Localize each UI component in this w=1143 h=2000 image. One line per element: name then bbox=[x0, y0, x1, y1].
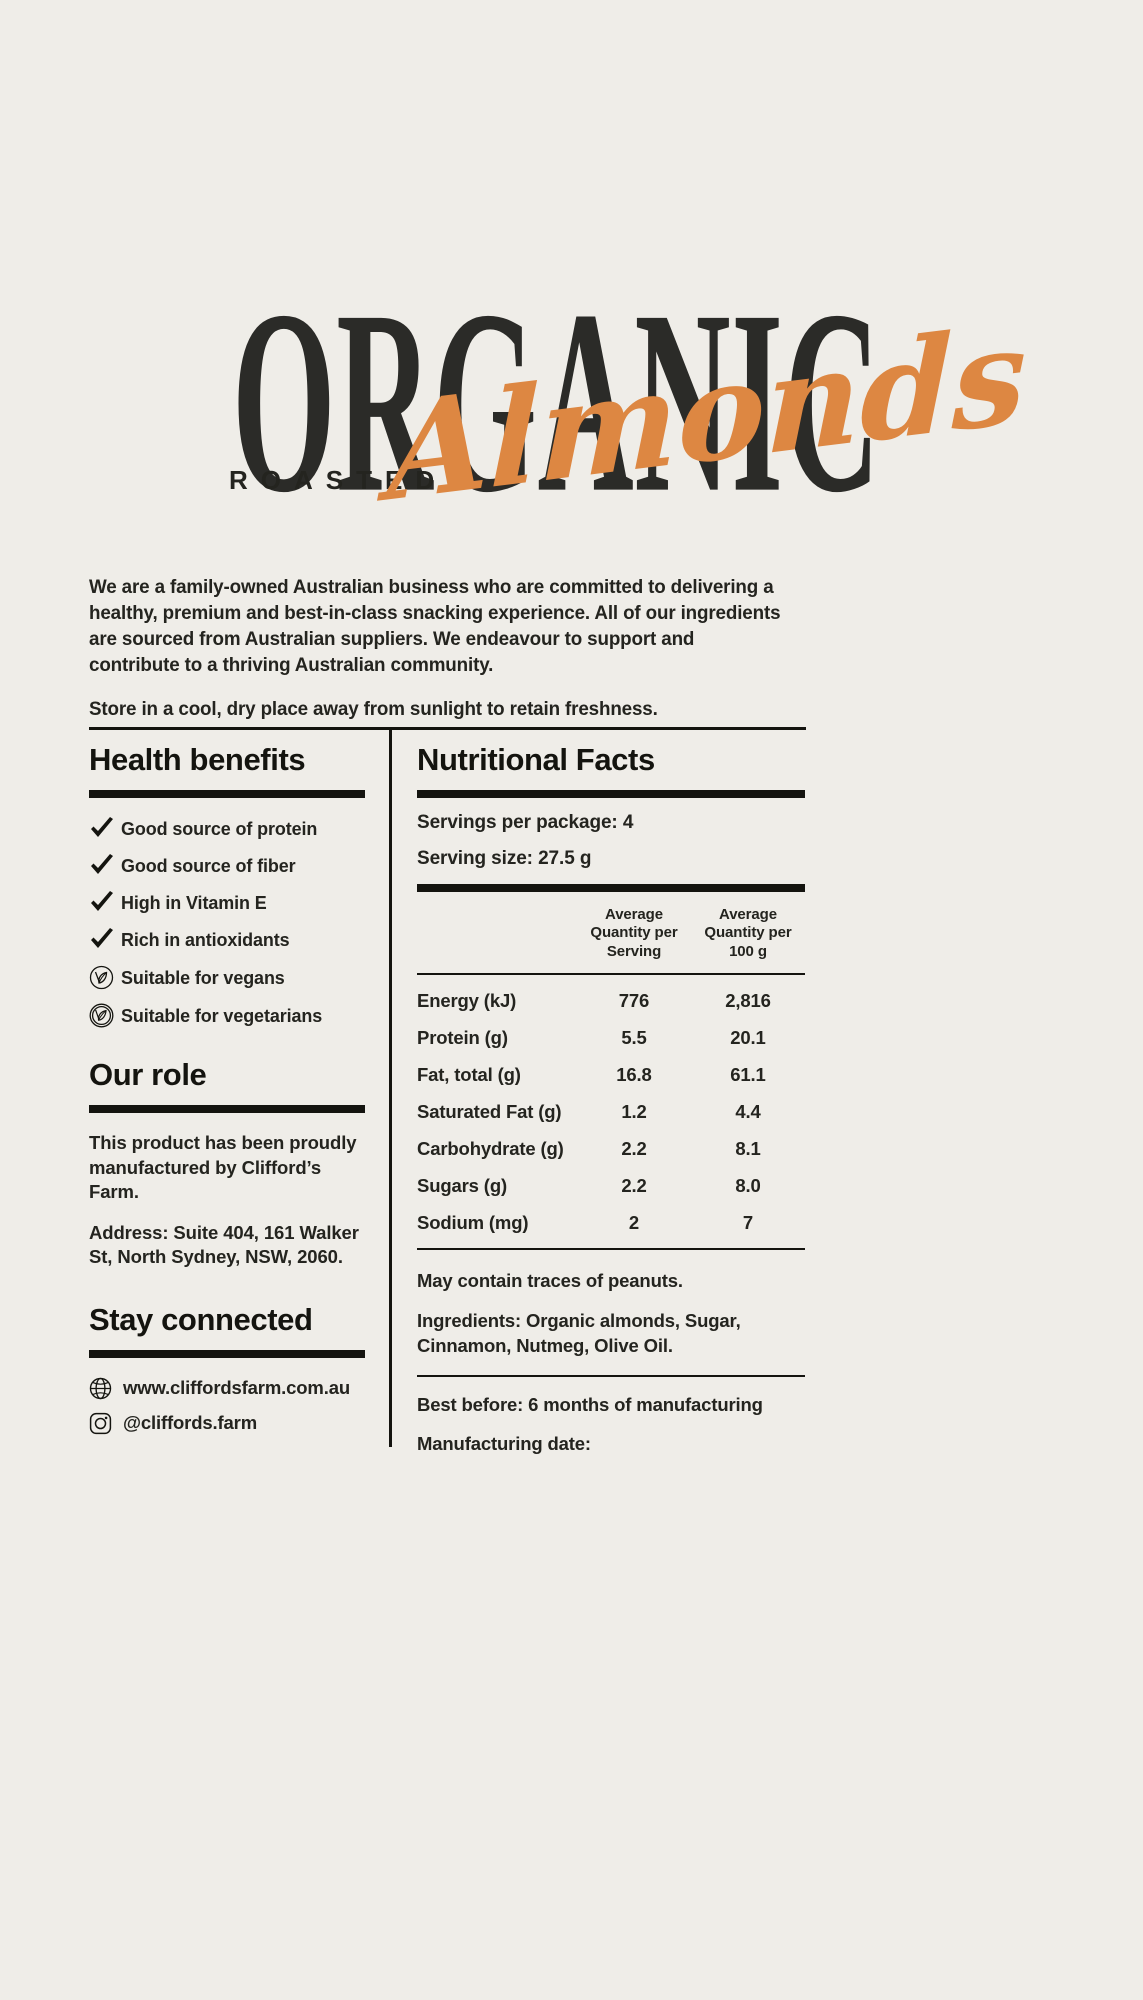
nutrient-name: Sugars (g) bbox=[417, 1167, 577, 1204]
value-per-serving: 2.2 bbox=[577, 1167, 691, 1204]
table-row: Saturated Fat (g) 1.2 4.4 bbox=[417, 1093, 805, 1130]
section-top-rule bbox=[89, 727, 806, 730]
list-item-label: Suitable for vegetarians bbox=[121, 1005, 322, 1027]
serving-size: Serving size: 27.5 g bbox=[417, 848, 807, 870]
globe-icon bbox=[89, 1377, 123, 1400]
allergen-note: May contain traces of peanuts. bbox=[417, 1269, 807, 1294]
list-item-label: Good source of fiber bbox=[121, 855, 296, 877]
notes-bottom-rule bbox=[417, 1375, 805, 1377]
nutritional-facts-heading: Nutritional Facts bbox=[417, 742, 807, 778]
value-per-100g: 4.4 bbox=[691, 1093, 805, 1130]
hero-lockup: ORGANIC ROASTED Almonds bbox=[0, 270, 1143, 600]
intro-paragraph-about: We are a family-owned Australian busines… bbox=[89, 575, 789, 679]
stay-connected-rule bbox=[89, 1350, 365, 1358]
right-column: Nutritional Facts Servings per package: … bbox=[417, 742, 807, 1472]
per-100g-column-header: Average Quantity per 100 g bbox=[691, 892, 805, 974]
list-item: Good source of fiber bbox=[89, 854, 374, 878]
manufacturer-text: This product has been proudly manufactur… bbox=[89, 1131, 374, 1205]
hdr-line: Average bbox=[605, 906, 663, 923]
list-item: Suitable for vegetarians bbox=[89, 1003, 374, 1028]
intro-block: We are a family-owned Australian busines… bbox=[89, 575, 814, 741]
social-links: www.cliffordsfarm.com.au @cliffords.farm bbox=[89, 1377, 374, 1435]
intro-paragraph-storage: Store in a cool, dry place away from sun… bbox=[89, 697, 789, 723]
table-row: Sodium (mg) 2 7 bbox=[417, 1204, 805, 1249]
hdr-line: Quantity per bbox=[704, 924, 791, 941]
nutrition-table: Average Quantity per Serving Average Qua… bbox=[417, 892, 805, 1250]
servings-per-package: Servings per package: 4 bbox=[417, 812, 807, 834]
table-row: Sugars (g) 2.2 8.0 bbox=[417, 1167, 805, 1204]
hdr-line: 100 g bbox=[729, 943, 767, 960]
value-per-serving: 1.2 bbox=[577, 1093, 691, 1130]
per-serving-column-header: Average Quantity per Serving bbox=[577, 892, 691, 974]
list-item: High in Vitamin E bbox=[89, 891, 374, 915]
stay-connected-heading: Stay connected bbox=[89, 1302, 374, 1338]
manufacturing-date: Manufacturing date: bbox=[417, 1433, 807, 1455]
value-per-serving: 5.5 bbox=[577, 1019, 691, 1056]
our-role-heading: Our role bbox=[89, 1057, 374, 1093]
serving-info: Servings per package: 4 Serving size: 27… bbox=[417, 812, 807, 870]
table-row: Protein (g) 5.5 20.1 bbox=[417, 1019, 805, 1056]
value-per-100g: 8.1 bbox=[691, 1130, 805, 1167]
value-per-100g: 20.1 bbox=[691, 1019, 805, 1056]
left-column: Health benefits Good source of protein G… bbox=[89, 742, 374, 1447]
check-icon bbox=[89, 928, 121, 952]
value-per-serving: 16.8 bbox=[577, 1056, 691, 1093]
hdr-line: Serving bbox=[607, 943, 661, 960]
nutrient-name: Saturated Fat (g) bbox=[417, 1093, 577, 1130]
list-item-label: Good source of protein bbox=[121, 818, 317, 840]
list-item: Suitable for vegans bbox=[89, 965, 374, 990]
list-item: Rich in antioxidants bbox=[89, 928, 374, 952]
value-per-100g: 2,816 bbox=[691, 974, 805, 1020]
list-item-label: Suitable for vegans bbox=[121, 967, 285, 989]
list-item: Good source of protein bbox=[89, 817, 374, 841]
vegan-leaf-icon bbox=[89, 965, 121, 990]
date-block: Best before: 6 months of manufacturing M… bbox=[417, 1394, 807, 1455]
social-link-website[interactable]: www.cliffordsfarm.com.au bbox=[89, 1377, 374, 1400]
best-before: Best before: 6 months of manufacturing bbox=[417, 1394, 807, 1416]
hdr-line: Quantity per bbox=[590, 924, 677, 941]
value-per-serving: 2 bbox=[577, 1204, 691, 1249]
table-header-row: Average Quantity per Serving Average Qua… bbox=[417, 892, 805, 974]
value-per-serving: 776 bbox=[577, 974, 691, 1020]
value-per-100g: 7 bbox=[691, 1204, 805, 1249]
instagram-icon bbox=[89, 1412, 123, 1435]
nutrient-column-header bbox=[417, 892, 577, 974]
nutrient-name: Protein (g) bbox=[417, 1019, 577, 1056]
check-icon bbox=[89, 817, 121, 841]
nutrition-table-top-rule bbox=[417, 884, 805, 892]
health-benefits-list: Good source of protein Good source of fi… bbox=[89, 817, 374, 1028]
label-page: ORGANIC ROASTED Almonds We are a family-… bbox=[0, 0, 1143, 2000]
nutrient-name: Fat, total (g) bbox=[417, 1056, 577, 1093]
check-icon bbox=[89, 854, 121, 878]
nutrient-name: Energy (kJ) bbox=[417, 974, 577, 1020]
hdr-line: Average bbox=[719, 906, 777, 923]
health-benefits-rule bbox=[89, 790, 365, 798]
ingredients-note: Ingredients: Organic almonds, Sugar, Cin… bbox=[417, 1309, 807, 1358]
our-role-rule bbox=[89, 1105, 365, 1113]
nutritional-facts-rule bbox=[417, 790, 805, 798]
value-per-100g: 61.1 bbox=[691, 1056, 805, 1093]
website-label: www.cliffordsfarm.com.au bbox=[123, 1377, 350, 1399]
instagram-label: @cliffords.farm bbox=[123, 1412, 257, 1434]
list-item-label: Rich in antioxidants bbox=[121, 929, 290, 951]
table-row: Carbohydrate (g) 2.2 8.1 bbox=[417, 1130, 805, 1167]
column-divider bbox=[389, 727, 392, 1447]
table-row: Fat, total (g) 16.8 61.1 bbox=[417, 1056, 805, 1093]
list-item-label: High in Vitamin E bbox=[121, 892, 267, 914]
address-text: Address: Suite 404, 161 Walker St, North… bbox=[89, 1221, 374, 1270]
value-per-serving: 2.2 bbox=[577, 1130, 691, 1167]
nutrient-name: Sodium (mg) bbox=[417, 1204, 577, 1249]
health-benefits-heading: Health benefits bbox=[89, 742, 374, 778]
our-role-body: This product has been proudly manufactur… bbox=[89, 1131, 374, 1270]
vegetarian-leaf-icon bbox=[89, 1003, 121, 1028]
value-per-100g: 8.0 bbox=[691, 1167, 805, 1204]
nutrient-name: Carbohydrate (g) bbox=[417, 1130, 577, 1167]
nutrition-notes: May contain traces of peanuts. Ingredien… bbox=[417, 1269, 807, 1359]
social-link-instagram[interactable]: @cliffords.farm bbox=[89, 1412, 374, 1435]
table-row: Energy (kJ) 776 2,816 bbox=[417, 974, 805, 1020]
check-icon bbox=[89, 891, 121, 915]
